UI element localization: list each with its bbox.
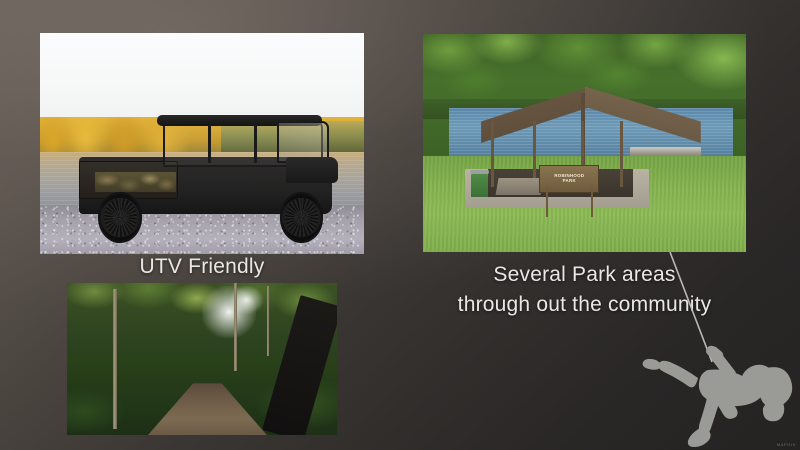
tree-trunk-right [267,286,269,356]
utv-caption: UTV Friendly [40,254,364,280]
pavilion-post-2 [533,121,536,186]
utv-camo-panel [95,172,176,192]
utv-hood [286,157,338,184]
tree-trunk-left [113,289,117,429]
pavilion-post-1 [491,121,494,186]
wooded-trail-photo[interactable] [67,283,337,435]
utv-rear-wheel [98,192,142,243]
utv-on-lakeshore-photo[interactable] [40,33,364,254]
pavilion-post-4 [620,121,623,186]
presentation-slide: UTV Friendly ROBINHOOD PARK [0,0,800,450]
robinhood-park-pavilion-photo[interactable]: ROBINHOOD PARK [423,34,746,252]
trail-photo-scene [67,283,337,435]
park-sign-post-right [591,187,593,218]
picnic-table [496,178,544,195]
utv-b-pillar [208,121,211,163]
utv-photo-scene [40,33,364,254]
utv-c-pillar [254,121,257,163]
pavilion-photo-scene: ROBINHOOD PARK [423,34,746,252]
utv-front-wheel [280,192,324,243]
watermark-text: MAPGIS [777,442,796,447]
swing-person-silhouette [643,346,793,447]
park-areas-caption: Several Park areas through out the commu… [423,260,746,320]
tree-trunk-center [234,283,237,371]
park-sign-line-2: PARK [563,179,576,183]
park-sign-post-left [546,187,548,218]
trash-can [471,174,487,198]
